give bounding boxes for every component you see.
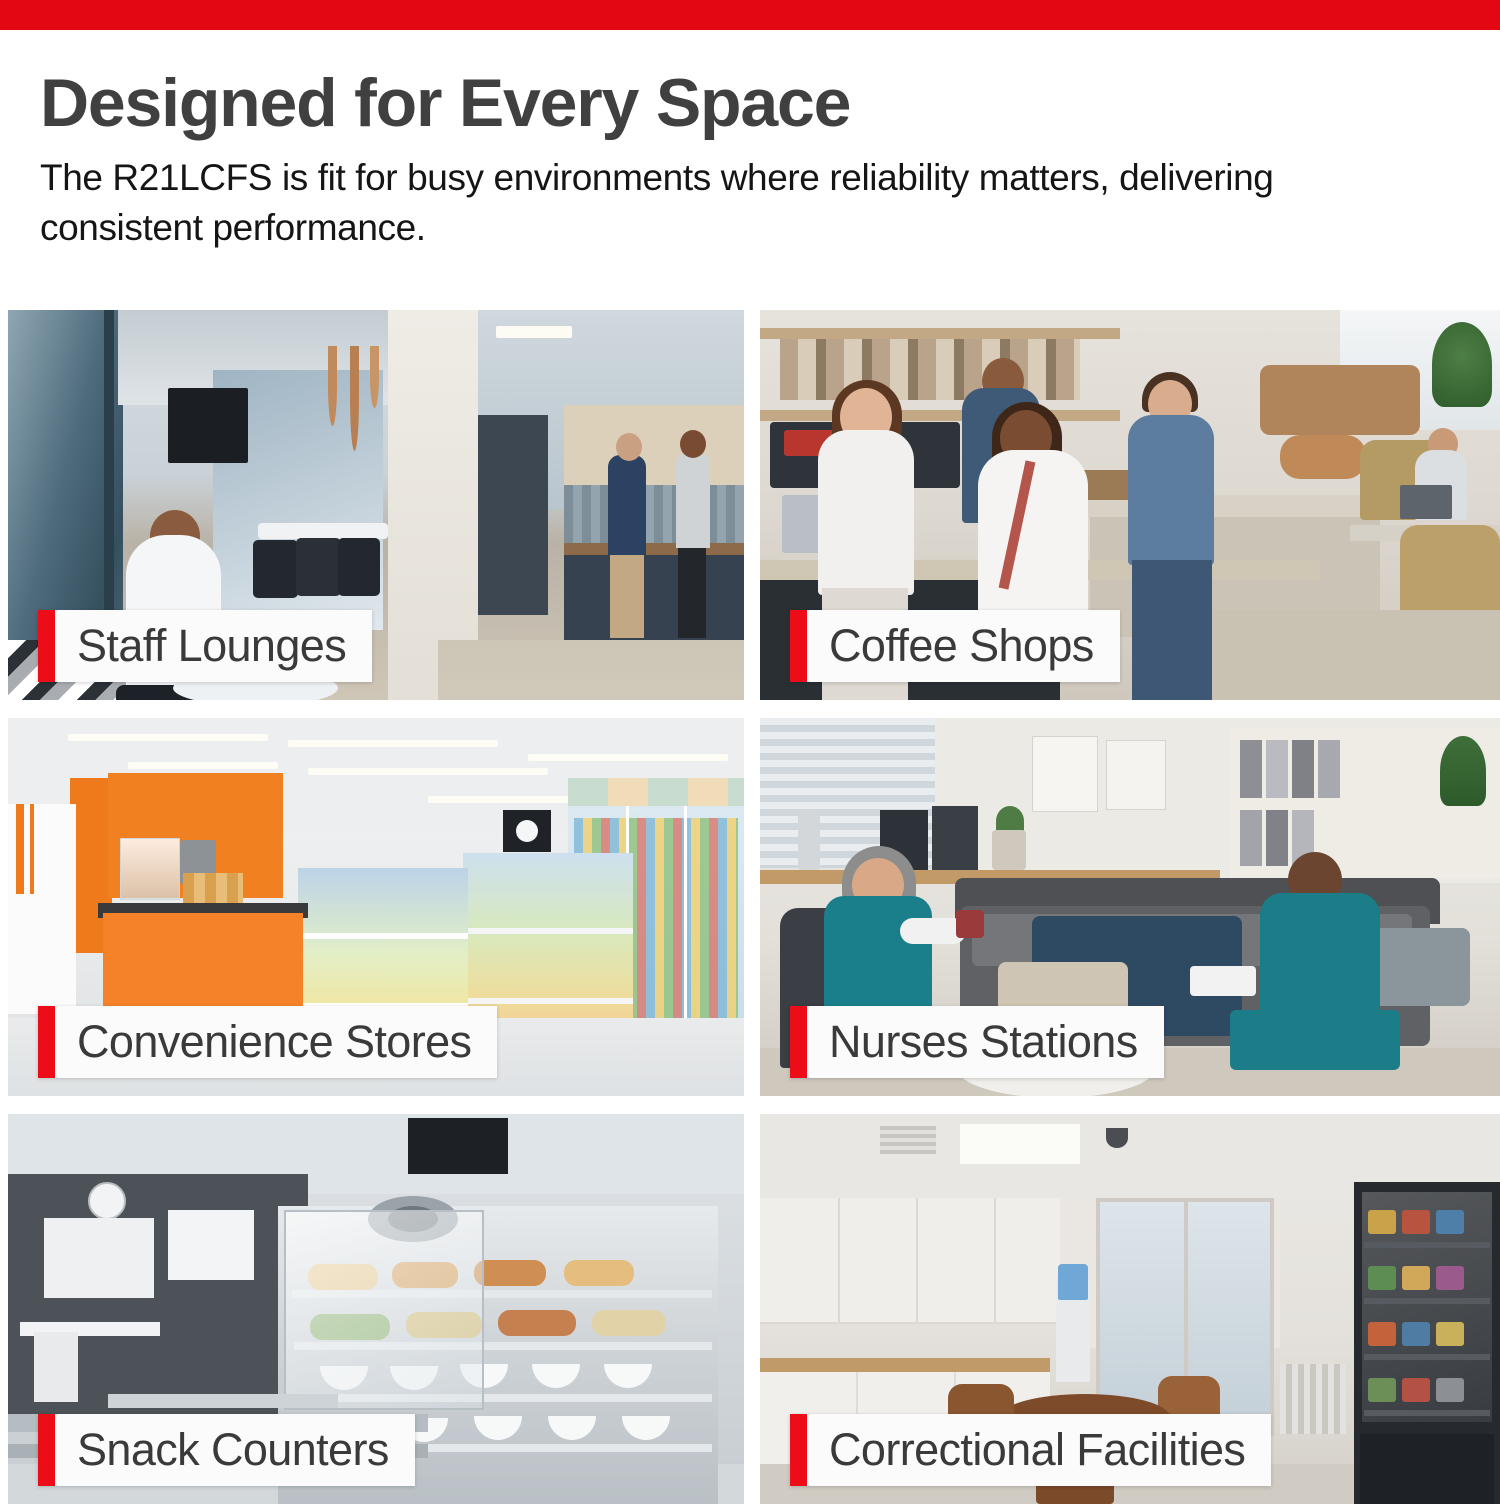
tile-caption: Correctional Facilities [790,1414,1271,1486]
space-types-grid: Staff Lounges Coffee Shops [8,310,1500,1500]
tile-caption: Snack Counters [38,1414,415,1486]
caption-accent-bar [790,1006,807,1078]
caption-accent-bar [790,1414,807,1486]
header: Designed for Every Space The R21LCFS is … [0,30,1500,298]
caption-accent-bar [38,1414,55,1486]
page-title: Designed for Every Space [40,68,1460,139]
tile-snack-counters[interactable]: Snack Counters [8,1114,744,1504]
tile-caption: Nurses Stations [790,1006,1164,1078]
top-accent-bar [0,0,1500,30]
tile-caption: Coffee Shops [790,610,1120,682]
tile-label: Convenience Stores [55,1006,497,1078]
caption-accent-bar [38,610,55,682]
tile-label: Correctional Facilities [807,1414,1271,1486]
tile-label: Nurses Stations [807,1006,1164,1078]
tile-correctional-facilities[interactable]: Correctional Facilities [760,1114,1500,1504]
tile-label: Snack Counters [55,1414,415,1486]
tile-convenience-stores[interactable]: Convenience Stores [8,718,744,1096]
tile-staff-lounges[interactable]: Staff Lounges [8,310,744,700]
tile-coffee-shops[interactable]: Coffee Shops [760,310,1500,700]
tile-label: Staff Lounges [55,610,372,682]
caption-accent-bar [38,1006,55,1078]
tile-nurses-stations[interactable]: Nurses Stations [760,718,1500,1096]
page-subtitle: The R21LCFS is fit for busy environments… [40,153,1440,251]
caption-accent-bar [790,610,807,682]
tile-label: Coffee Shops [807,610,1120,682]
tile-caption: Convenience Stores [38,1006,497,1078]
tile-caption: Staff Lounges [38,610,372,682]
